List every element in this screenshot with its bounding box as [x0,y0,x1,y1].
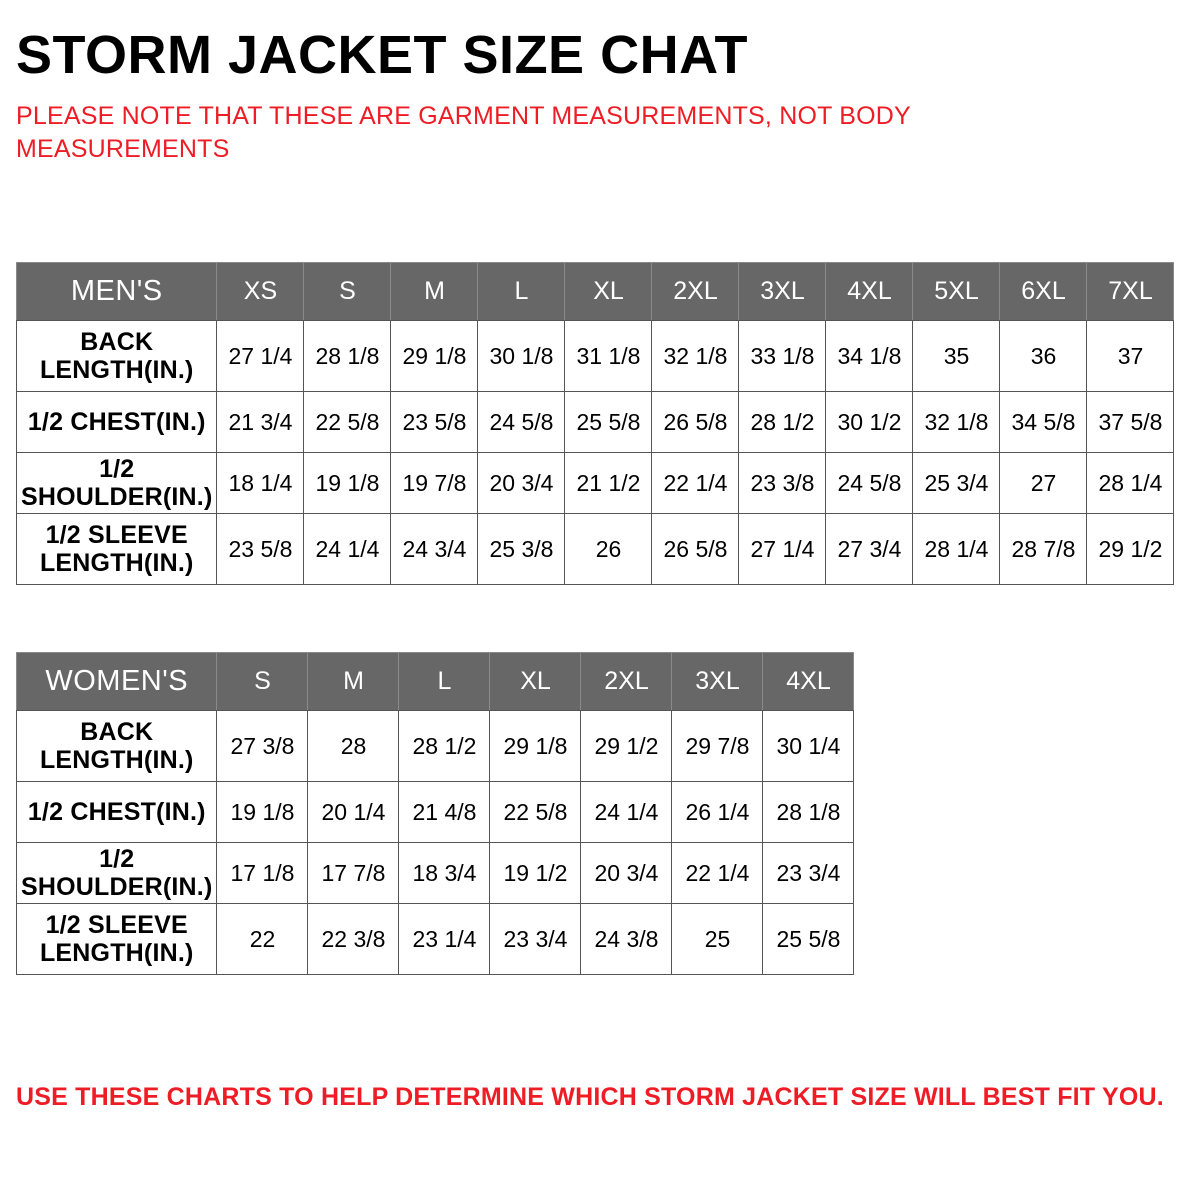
measurement-cell: 25 5/8 [763,904,854,975]
measurement-cell: 28 1/8 [304,321,391,392]
measurement-cell: 22 1/4 [652,453,739,514]
measurement-value: 24 3/4 [403,536,467,562]
measurement-cell: 29 1/8 [391,321,478,392]
measurement-cell: 20 3/4 [581,843,672,904]
measurement-value: 22 5/8 [504,799,568,825]
measurement-value: 28 [341,733,367,759]
measurement-cell: 19 1/8 [304,453,391,514]
measurement-value: 22 1/4 [664,470,728,496]
mens-measurement-label: 1/2 SHOULDER(IN.) [17,453,217,514]
measurement-cell: 26 5/8 [652,392,739,453]
measurement-cell: 20 1/4 [308,782,399,843]
measurement-value: 24 3/8 [595,926,659,952]
measurement-cell: 29 1/2 [581,711,672,782]
measurement-cell: 24 3/8 [581,904,672,975]
measurement-cell: 35 [913,321,1000,392]
mens-measurement-label: 1/2 CHEST(IN.) [17,392,217,453]
measurement-cell: 37 5/8 [1087,392,1174,453]
measurement-cell: 34 5/8 [1000,392,1087,453]
measurement-value: 25 3/8 [490,536,554,562]
measurement-cell: 26 1/4 [672,782,763,843]
measurement-cell: 24 1/4 [304,514,391,585]
measurement-cell: 22 5/8 [490,782,581,843]
measurement-cell: 28 1/4 [913,514,1000,585]
measurement-value: 30 1/8 [490,343,554,369]
measurement-cell: 21 1/2 [565,453,652,514]
measurement-cell: 24 3/4 [391,514,478,585]
measurement-value: 18 3/4 [413,860,477,886]
measurement-cell: 27 [1000,453,1087,514]
measurement-cell: 18 3/4 [399,843,490,904]
measurement-cell: 22 3/8 [308,904,399,975]
measurement-cell: 30 1/4 [763,711,854,782]
measurement-value: 28 1/8 [777,799,841,825]
womens-measurement-label: 1/2 CHEST(IN.) [17,782,217,843]
measurement-value: 19 1/2 [504,860,568,886]
measurement-cell: 23 5/8 [217,514,304,585]
measurement-value: 19 1/8 [231,799,295,825]
measurement-cell: 24 1/4 [581,782,672,843]
measurement-cell: 19 1/2 [490,843,581,904]
measurement-value: 28 1/2 [751,409,815,435]
measurement-value: 25 5/8 [777,926,841,952]
measurement-value: 31 1/8 [577,343,641,369]
measurement-cell: 17 7/8 [308,843,399,904]
measurement-cell: 29 7/8 [672,711,763,782]
measurement-cell: 22 [217,904,308,975]
measurement-value: 19 7/8 [403,470,467,496]
measurement-cell: 20 3/4 [478,453,565,514]
measurement-cell: 32 1/8 [913,392,1000,453]
measurement-value: 23 3/4 [504,926,568,952]
measurement-cell: 26 [565,514,652,585]
usage-note: USE THESE CHARTS TO HELP DETERMINE WHICH… [16,1081,1164,1113]
measurement-cell: 30 1/2 [826,392,913,453]
measurement-value: 26 5/8 [664,536,728,562]
measurement-value: 23 5/8 [403,409,467,435]
mens-size-header-3xl: 3XL [739,263,826,321]
measurement-cell: 28 1/2 [739,392,826,453]
measurement-value: 21 4/8 [413,799,477,825]
measurement-cell: 33 1/8 [739,321,826,392]
womens-measurement-label: BACKLENGTH(IN.) [17,711,217,782]
measurement-value: 34 1/8 [838,343,902,369]
table-row: 1/2 SHOULDER(IN.)18 1/419 1/819 7/820 3/… [17,453,1174,514]
measurement-cell: 24 5/8 [478,392,565,453]
womens-size-header-2xl: 2XL [581,653,672,711]
measurement-value: 22 5/8 [316,409,380,435]
mens-table-head: MEN'SXSSMLXL2XL3XL4XL5XL6XL7XL [17,263,1174,321]
measurement-cell: 29 1/8 [490,711,581,782]
mens-corner-header: MEN'S [17,263,217,321]
measurement-cell: 25 3/4 [913,453,1000,514]
mens-size-header-6xl: 6XL [1000,263,1087,321]
measurement-cell: 28 1/8 [763,782,854,843]
measurement-cell: 23 1/4 [399,904,490,975]
womens-table-body: BACKLENGTH(IN.)27 3/82828 1/229 1/829 1/… [17,711,854,975]
womens-table-head: WOMEN'SSMLXL2XL3XL4XL [17,653,854,711]
measurement-value: 28 1/4 [1099,470,1163,496]
womens-measurement-label: 1/2 SLEEVELENGTH(IN.) [17,904,217,975]
measurement-cell: 27 1/4 [739,514,826,585]
measurement-value: 26 1/4 [686,799,750,825]
measurement-value: 28 7/8 [1012,536,1076,562]
measurement-value: 27 3/8 [231,733,295,759]
mens-table-body: BACKLENGTH(IN.)27 1/428 1/829 1/830 1/83… [17,321,1174,585]
measurement-value: 17 1/8 [231,860,295,886]
mens-size-table: MEN'SXSSMLXL2XL3XL4XL5XL6XL7XL BACKLENGT… [16,262,1174,585]
measurement-value: 34 5/8 [1012,409,1076,435]
measurement-value: 28 1/8 [316,343,380,369]
table-row: BACKLENGTH(IN.)27 1/428 1/829 1/830 1/83… [17,321,1174,392]
measurement-cell: 25 3/8 [478,514,565,585]
mens-header-row: MEN'SXSSMLXL2XL3XL4XL5XL6XL7XL [17,263,1174,321]
measurement-cell: 27 3/4 [826,514,913,585]
measurement-cell: 31 1/8 [565,321,652,392]
measurement-cell: 21 4/8 [399,782,490,843]
mens-size-header-5xl: 5XL [913,263,1000,321]
measurement-cell: 24 5/8 [826,453,913,514]
measurement-value: 28 1/2 [413,733,477,759]
measurement-value: 33 1/8 [751,343,815,369]
measurement-value: 23 3/8 [751,470,815,496]
garment-measurement-note: PLEASE NOTE THAT THESE ARE GARMENT MEASU… [16,100,976,166]
measurement-cell: 22 1/4 [672,843,763,904]
measurement-value: 26 5/8 [664,409,728,435]
size-chart-page: STORM JACKET SIZE CHAT PLEASE NOTE THAT … [0,0,1200,1200]
table-row: 1/2 SHOULDER(IN.)17 1/817 7/818 3/419 1/… [17,843,854,904]
measurement-value: 37 [1118,343,1144,369]
measurement-cell: 27 1/4 [217,321,304,392]
table-row: 1/2 SLEEVELENGTH(IN.)2222 3/823 1/423 3/… [17,904,854,975]
measurement-cell: 23 3/4 [490,904,581,975]
measurement-value: 24 5/8 [490,409,554,435]
measurement-value: 26 [596,536,622,562]
measurement-cell: 37 [1087,321,1174,392]
measurement-cell: 23 3/4 [763,843,854,904]
measurement-value: 17 7/8 [322,860,386,886]
measurement-cell: 28 1/4 [1087,453,1174,514]
womens-size-header-l: L [399,653,490,711]
measurement-value: 20 3/4 [490,470,554,496]
mens-size-header-m: M [391,263,478,321]
table-row: 1/2 SLEEVELENGTH(IN.)23 5/824 1/424 3/42… [17,514,1174,585]
table-row: BACKLENGTH(IN.)27 3/82828 1/229 1/829 1/… [17,711,854,782]
womens-size-header-m: M [308,653,399,711]
measurement-value: 23 1/4 [413,926,477,952]
measurement-cell: 29 1/2 [1087,514,1174,585]
measurement-value: 24 1/4 [316,536,380,562]
measurement-value: 20 1/4 [322,799,386,825]
measurement-value: 29 1/8 [403,343,467,369]
mens-size-header-7xl: 7XL [1087,263,1174,321]
womens-measurement-label: 1/2 SHOULDER(IN.) [17,843,217,904]
womens-size-header-3xl: 3XL [672,653,763,711]
mens-size-header-4xl: 4XL [826,263,913,321]
mens-size-table-container: MEN'SXSSMLXL2XL3XL4XL5XL6XL7XL BACKLENGT… [16,262,1174,585]
measurement-cell: 22 5/8 [304,392,391,453]
measurement-value: 25 5/8 [577,409,641,435]
mens-size-header-s: S [304,263,391,321]
measurement-value: 25 [705,926,731,952]
measurement-cell: 26 5/8 [652,514,739,585]
measurement-value: 32 1/8 [664,343,728,369]
measurement-value: 27 [1031,470,1057,496]
measurement-cell: 28 [308,711,399,782]
measurement-value: 21 3/4 [229,409,293,435]
womens-size-header-xl: XL [490,653,581,711]
measurement-value: 19 1/8 [316,470,380,496]
mens-size-header-xl: XL [565,263,652,321]
measurement-cell: 34 1/8 [826,321,913,392]
measurement-cell: 32 1/8 [652,321,739,392]
measurement-cell: 23 3/8 [739,453,826,514]
page-title: STORM JACKET SIZE CHAT [16,0,1184,86]
measurement-value: 24 5/8 [838,470,902,496]
measurement-cell: 30 1/8 [478,321,565,392]
measurement-value: 29 1/2 [1099,536,1163,562]
measurement-cell: 18 1/4 [217,453,304,514]
measurement-cell: 25 [672,904,763,975]
measurement-cell: 28 1/2 [399,711,490,782]
mens-measurement-label: 1/2 SLEEVELENGTH(IN.) [17,514,217,585]
measurement-cell: 17 1/8 [217,843,308,904]
measurement-value: 23 3/4 [777,860,841,886]
measurement-cell: 36 [1000,321,1087,392]
measurement-value: 24 1/4 [595,799,659,825]
measurement-value: 22 3/8 [322,926,386,952]
measurement-value: 29 1/2 [595,733,659,759]
measurement-value: 35 [944,343,970,369]
womens-size-header-4xl: 4XL [763,653,854,711]
womens-corner-header: WOMEN'S [17,653,217,711]
measurement-value: 23 5/8 [229,536,293,562]
measurement-value: 18 1/4 [229,470,293,496]
measurement-value: 28 1/4 [925,536,989,562]
measurement-cell: 25 5/8 [565,392,652,453]
womens-size-table: WOMEN'SSMLXL2XL3XL4XL BACKLENGTH(IN.)27 … [16,652,854,975]
mens-size-header-xs: XS [217,263,304,321]
measurement-value: 37 5/8 [1099,409,1163,435]
measurement-value: 36 [1031,343,1057,369]
measurement-cell: 19 7/8 [391,453,478,514]
measurement-value: 30 1/4 [777,733,841,759]
measurement-value: 27 1/4 [229,343,293,369]
womens-size-header-s: S [217,653,308,711]
measurement-value: 22 1/4 [686,860,750,886]
measurement-value: 27 3/4 [838,536,902,562]
womens-size-table-container: WOMEN'SSMLXL2XL3XL4XL BACKLENGTH(IN.)27 … [16,652,854,975]
measurement-cell: 23 5/8 [391,392,478,453]
womens-header-row: WOMEN'SSMLXL2XL3XL4XL [17,653,854,711]
measurement-value: 20 3/4 [595,860,659,886]
mens-size-header-2xl: 2XL [652,263,739,321]
measurement-value: 21 1/2 [577,470,641,496]
table-row: 1/2 CHEST(IN.)21 3/422 5/823 5/824 5/825… [17,392,1174,453]
measurement-value: 29 7/8 [686,733,750,759]
measurement-value: 27 1/4 [751,536,815,562]
measurement-value: 25 3/4 [925,470,989,496]
measurement-cell: 27 3/8 [217,711,308,782]
measurement-cell: 28 7/8 [1000,514,1087,585]
table-row: 1/2 CHEST(IN.)19 1/820 1/421 4/822 5/824… [17,782,854,843]
mens-measurement-label: BACKLENGTH(IN.) [17,321,217,392]
mens-size-header-l: L [478,263,565,321]
measurement-value: 32 1/8 [925,409,989,435]
measurement-cell: 19 1/8 [217,782,308,843]
measurement-value: 29 1/8 [504,733,568,759]
measurement-cell: 21 3/4 [217,392,304,453]
measurement-value: 22 [250,926,276,952]
measurement-value: 30 1/2 [838,409,902,435]
